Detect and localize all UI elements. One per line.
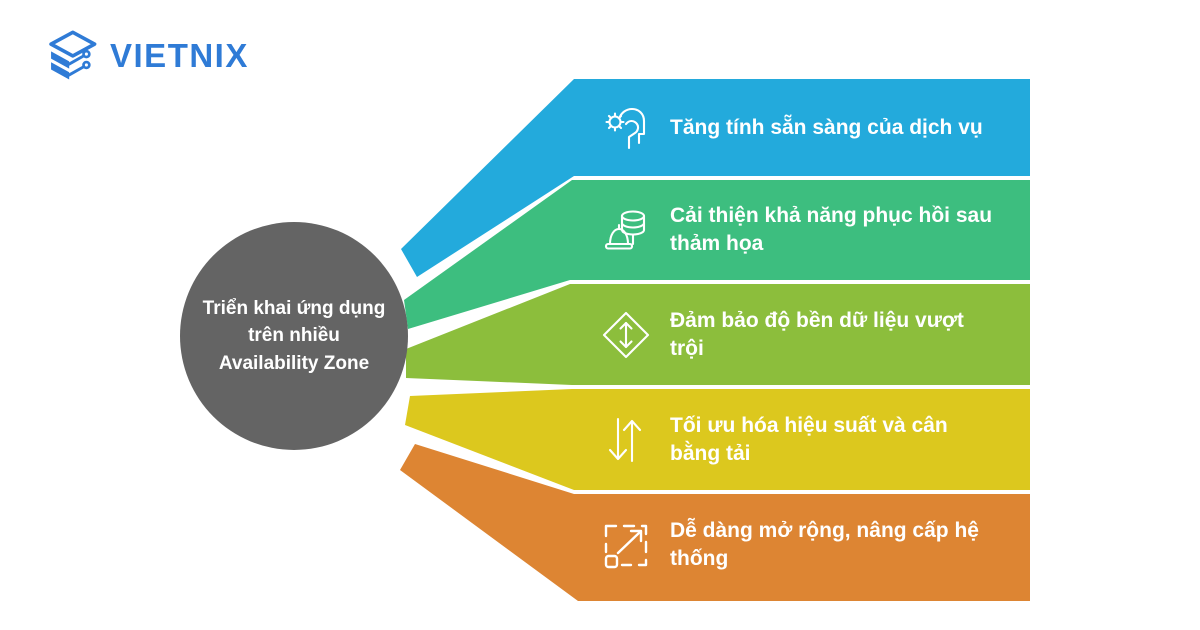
band-label-4: Tối ưu hóa hiệu suất và cân bằng tải	[670, 412, 1000, 468]
head-gear-icon	[600, 102, 652, 154]
band-row-2[interactable]: Cải thiện khả năng phục hồi sau thảm họa	[600, 194, 1020, 266]
center-hub: Triển khai ứng dụng trên nhiều Availabil…	[180, 222, 408, 450]
band-label-5: Dễ dàng mở rộng, nâng cấp hệ thống	[670, 517, 1000, 573]
brand-logo: VIETNIX	[42, 26, 249, 84]
up-down-arrows-icon	[600, 414, 652, 466]
band-row-5[interactable]: Dễ dàng mở rộng, nâng cấp hệ thống	[600, 509, 1020, 581]
band-row-4[interactable]: Tối ưu hóa hiệu suất và cân bằng tải	[600, 404, 1020, 476]
stacked-layers-icon	[42, 26, 100, 84]
database-hardhat-icon	[600, 204, 652, 256]
expand-scale-icon	[600, 519, 652, 571]
band-row-3[interactable]: Đảm bảo độ bền dữ liệu vượt trội	[600, 299, 1020, 371]
band-label-1: Tăng tính sẵn sàng của dịch vụ	[670, 114, 1000, 142]
diamond-updown-arrow-icon	[600, 309, 652, 361]
hub-label: Triển khai ứng dụng trên nhiều Availabil…	[199, 295, 389, 378]
band-label-2: Cải thiện khả năng phục hồi sau thảm họa	[670, 202, 1000, 258]
band-label-3: Đảm bảo độ bền dữ liệu vượt trội	[670, 307, 1000, 363]
brand-name: VIETNIX	[110, 39, 249, 72]
band-row-1[interactable]: Tăng tính sẵn sàng của dịch vụ	[600, 94, 1020, 162]
